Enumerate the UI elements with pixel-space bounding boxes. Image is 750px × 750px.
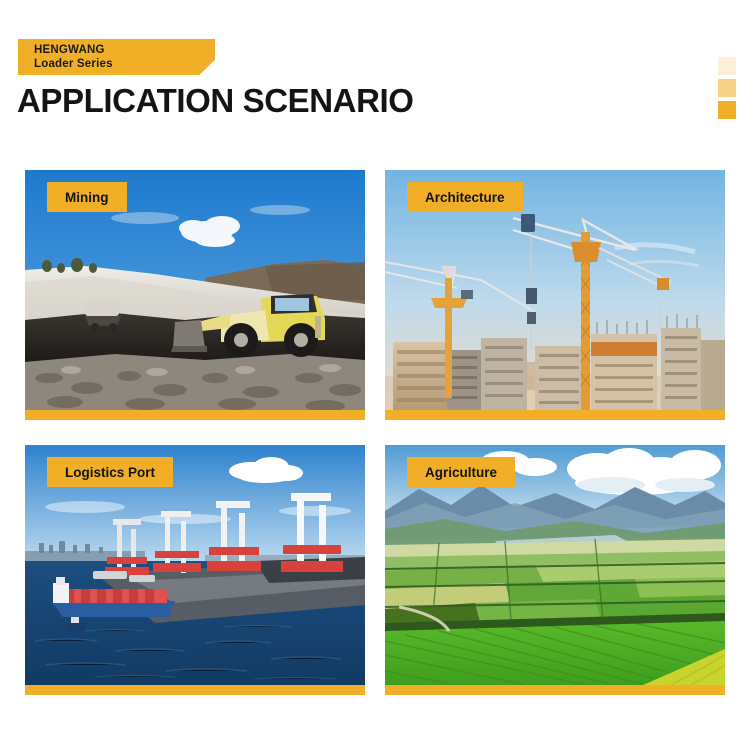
- scenario-photo-logistics-port: Logistics Port: [25, 445, 365, 685]
- card-accent-bar: [25, 685, 365, 695]
- scenario-card-logistics-port[interactable]: Logistics Port: [25, 445, 365, 695]
- scenario-photo-agriculture: Agriculture: [385, 445, 725, 685]
- scenario-card-agriculture[interactable]: Agriculture: [385, 445, 725, 695]
- card-accent-bar: [385, 685, 725, 695]
- card-accent-bar: [25, 410, 365, 420]
- scenario-photo-architecture: Architecture: [385, 170, 725, 410]
- scenario-photo-mining: Mining: [25, 170, 365, 410]
- scenario-tag-agriculture: Agriculture: [407, 457, 515, 487]
- scenario-tag-architecture: Architecture: [407, 182, 523, 212]
- scenario-card-mining[interactable]: Mining: [25, 170, 365, 420]
- scenario-card-architecture[interactable]: Architecture: [385, 170, 725, 420]
- card-accent-bar: [385, 410, 725, 420]
- scenario-tag-mining: Mining: [47, 182, 127, 212]
- scenario-card-grid: Mining: [0, 0, 750, 750]
- scenario-tag-logistics-port: Logistics Port: [47, 457, 173, 487]
